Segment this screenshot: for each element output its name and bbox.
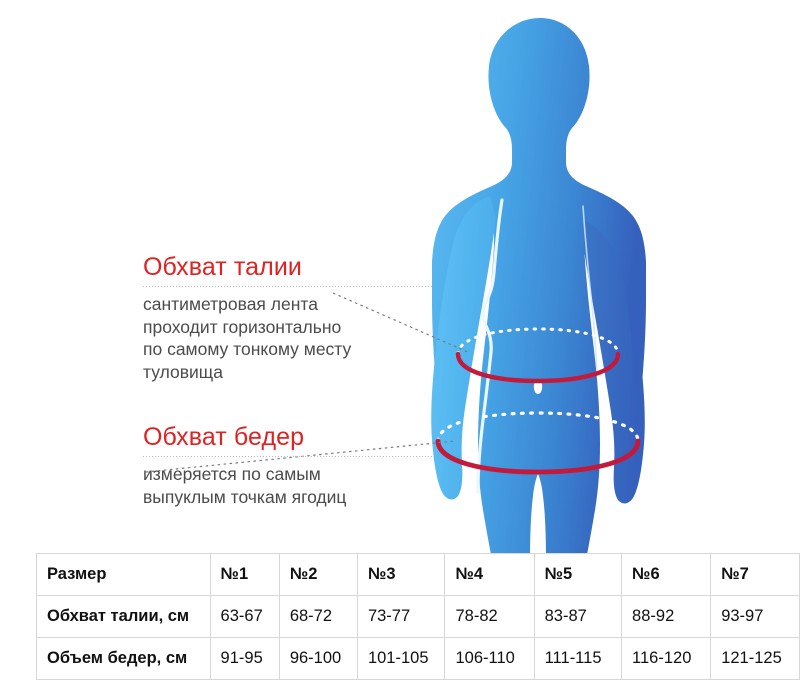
table-header-row: Размер №1 №2 №3 №4 №5 №6 №7 <box>37 554 800 596</box>
cell-waist-3: 73-77 <box>357 596 445 638</box>
annotation-hips-line-1: измеряется по самым <box>143 463 433 486</box>
cell-hips-6: 116-120 <box>622 638 711 680</box>
annotation-waist-rule <box>143 286 433 287</box>
cell-hips-1: 91-95 <box>210 638 279 680</box>
cell-hips-2: 96-100 <box>279 638 357 680</box>
annotation-hips-body: измеряется по самым выпуклым точкам ягод… <box>143 463 433 508</box>
infographic-root: Обхват талии сантиметровая лента проходи… <box>0 0 800 700</box>
cell-waist-4: 78-82 <box>445 596 534 638</box>
annotation-waist: Обхват талии сантиметровая лента проходи… <box>143 253 433 383</box>
cell-waist-5: 83-87 <box>534 596 621 638</box>
table-header-n4: №4 <box>445 554 534 596</box>
annotation-waist-line-2: проходит горизонтально <box>143 316 433 339</box>
table-header-size: Размер <box>37 554 211 596</box>
table-header-n2: №2 <box>279 554 357 596</box>
annotation-waist-line-4: туловища <box>143 361 433 384</box>
annotation-waist-title: Обхват талии <box>143 253 433 281</box>
cell-waist-1: 63-67 <box>210 596 279 638</box>
row-label-hips: Объем бедер, см <box>37 638 211 680</box>
table-header-n1: №1 <box>210 554 279 596</box>
size-chart-table: Размер №1 №2 №3 №4 №5 №6 №7 Обхват талии… <box>36 553 800 680</box>
table-header-n5: №5 <box>534 554 621 596</box>
table-header-n6: №6 <box>622 554 711 596</box>
annotation-hips-line-2: выпуклым точкам ягодиц <box>143 486 433 509</box>
table-header-n7: №7 <box>711 554 800 596</box>
annotation-hips: Обхват бедер измеряется по самым выпуклы… <box>143 423 433 508</box>
cell-hips-3: 101-105 <box>357 638 445 680</box>
cell-hips-4: 106-110 <box>445 638 534 680</box>
annotation-hips-title: Обхват бедер <box>143 423 433 451</box>
annotation-waist-line-1: сантиметровая лента <box>143 293 433 316</box>
table-header-n3: №3 <box>357 554 445 596</box>
annotation-waist-line-3: по самому тонкому месту <box>143 338 433 361</box>
table-row: Обхват талии, см 63-67 68-72 73-77 78-82… <box>37 596 800 638</box>
cell-waist-6: 88-92 <box>622 596 711 638</box>
cell-waist-7: 93-97 <box>711 596 800 638</box>
annotation-hips-rule <box>143 456 433 457</box>
annotation-waist-body: сантиметровая лента проходит горизонталь… <box>143 293 433 383</box>
cell-hips-5: 111-115 <box>534 638 621 680</box>
cell-hips-7: 121-125 <box>711 638 800 680</box>
cell-waist-2: 68-72 <box>279 596 357 638</box>
body-figure <box>390 0 690 560</box>
female-torso-silhouette <box>390 0 690 560</box>
table-row: Объем бедер, см 91-95 96-100 101-105 106… <box>37 638 800 680</box>
row-label-waist: Обхват талии, см <box>37 596 211 638</box>
